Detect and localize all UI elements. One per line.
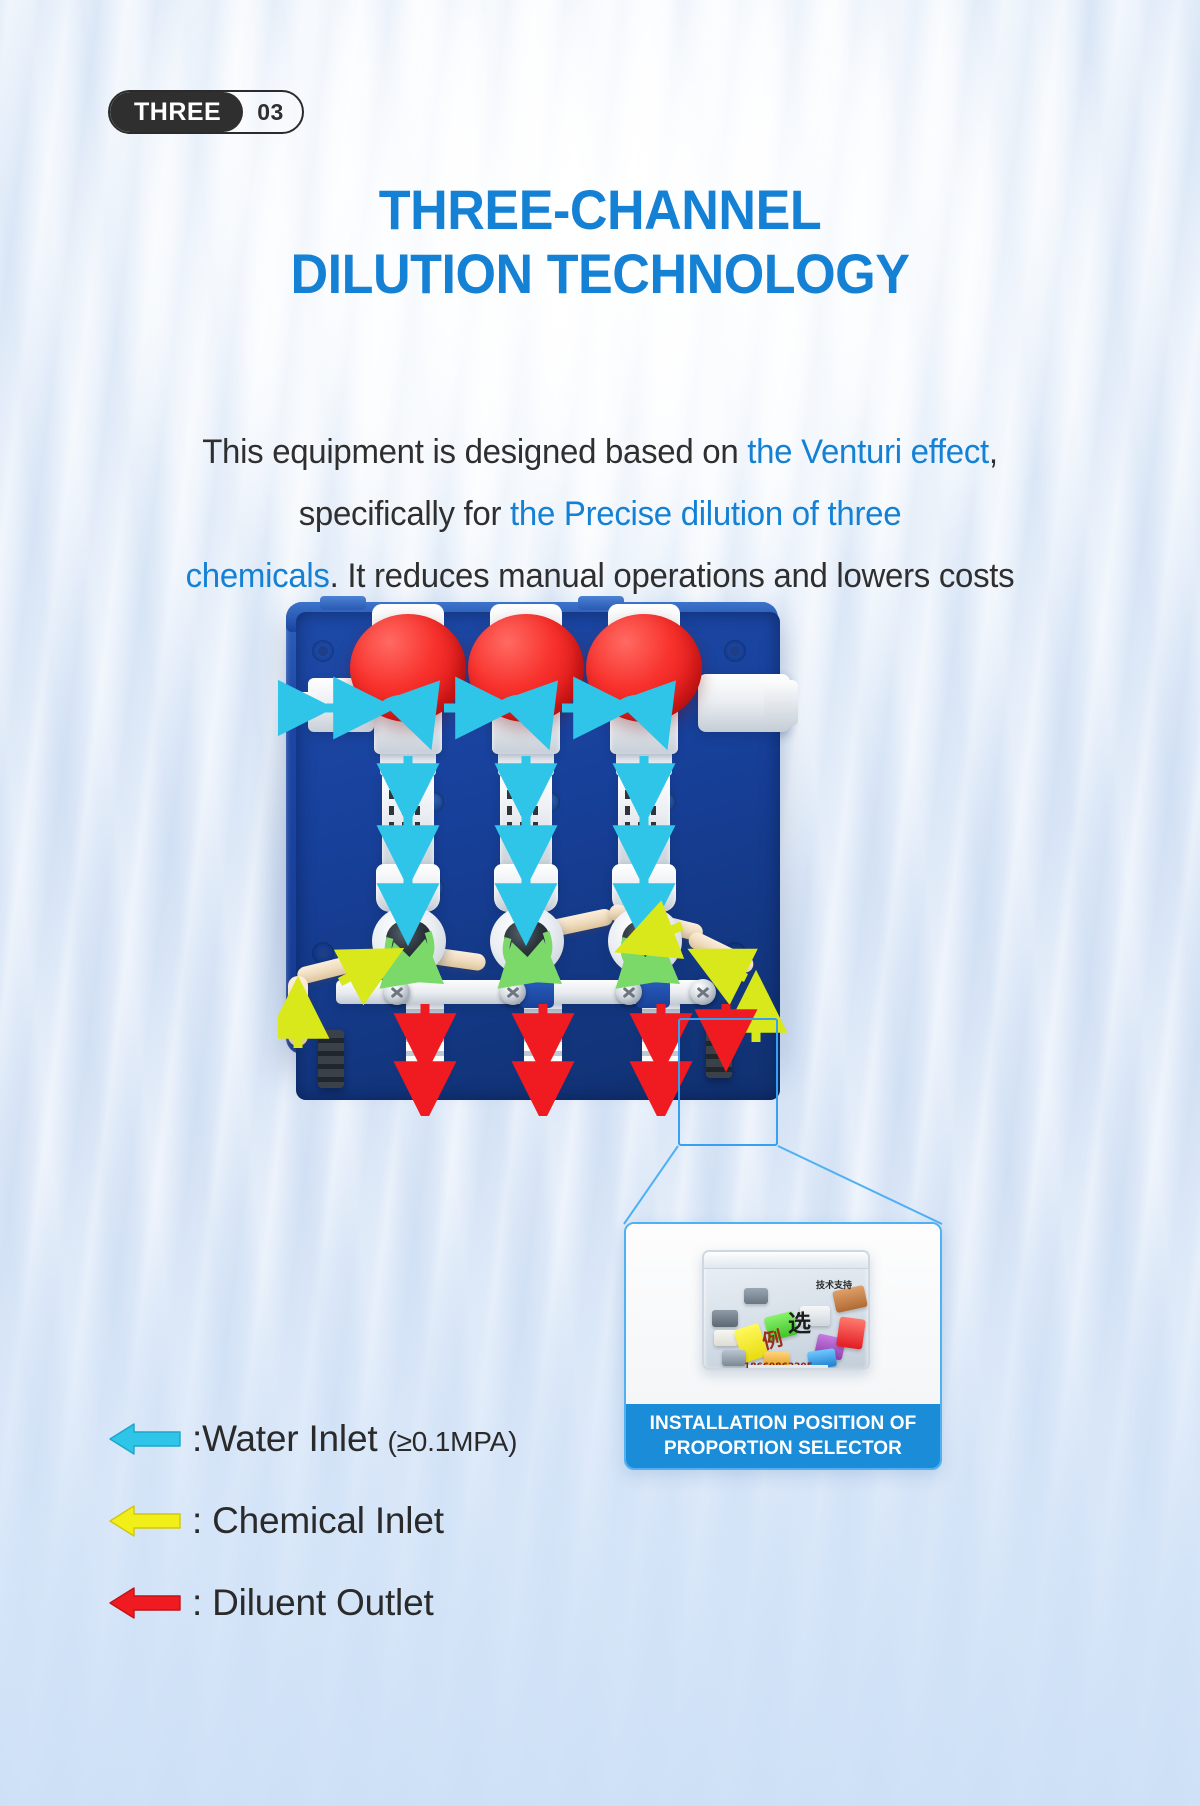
venturi-slots-2	[507, 790, 545, 852]
rail-screw-3	[616, 979, 642, 1005]
mixing-funnel-2	[494, 864, 558, 912]
description-text-1b: ,	[989, 433, 998, 471]
nozzle-gray-2	[744, 1288, 768, 1304]
inset-caption-line-2: PROPORTION SELECTOR	[664, 1436, 902, 1461]
venturi-slots-3	[625, 790, 663, 852]
venturi-injector-1	[382, 772, 434, 868]
outlet-barb-2	[524, 1000, 562, 1074]
title-line-1: THREE-CHANNEL	[379, 178, 821, 241]
legend-label-water-inlet: :Water Inlet (≥0.1MPA)	[192, 1418, 517, 1460]
description-highlight-3: chemicals	[186, 557, 330, 595]
mixing-funnel-1	[376, 864, 440, 912]
legend-label-diluent-outlet: : Diluent Outlet	[192, 1582, 434, 1624]
selector-case: 例 选 技术支持 18669862205	[702, 1250, 870, 1370]
right-end-nut	[764, 680, 798, 726]
section-badge: THREE 03	[108, 90, 304, 134]
nozzle-gray-1	[712, 1310, 738, 1327]
legend-item-chemical-inlet: : Chemical Inlet	[108, 1480, 517, 1562]
description-highlight-1: the Venturi effect	[747, 433, 989, 471]
outlet-barb-1	[406, 1000, 444, 1074]
inset-photo-text-2: 选	[788, 1304, 811, 1338]
outlet-barb-3	[642, 1000, 680, 1074]
legend-item-water-inlet: :Water Inlet (≥0.1MPA)	[108, 1398, 517, 1480]
description-paragraph: This equipment is designed based on the …	[37, 422, 1162, 608]
inset-photo-text-3: 技术支持	[816, 1278, 852, 1291]
legend-label-chemical-inlet: : Chemical Inlet	[192, 1500, 444, 1542]
nozzle-red	[836, 1316, 866, 1349]
nozzle-gray-3	[722, 1350, 746, 1366]
badge-number: 03	[243, 92, 302, 132]
mixing-hub-1	[386, 920, 432, 962]
description-text-1a: This equipment is designed based on	[202, 433, 747, 471]
chemical-inlet-barb-left	[318, 1030, 344, 1088]
chemical-tube-down	[288, 976, 308, 1046]
legend-text-water: :Water Inlet	[192, 1418, 387, 1459]
rail-screw-1	[384, 979, 410, 1005]
description-highlight-2: the Precise dilution of three	[510, 495, 901, 533]
screw-post-top-right	[724, 640, 746, 662]
inset-caption: INSTALLATION POSITION OF PROPORTION SELE…	[626, 1404, 940, 1468]
description-line-1: This equipment is designed based on the …	[37, 422, 1162, 484]
description-text-2a: specifically for	[299, 495, 510, 533]
red-valve-cap-3	[586, 614, 702, 722]
red-valve-cap-1	[350, 614, 466, 722]
legend-item-diluent-outlet: : Diluent Outlet	[108, 1562, 517, 1644]
page-title: THREE-CHANNEL DILUTION TECHNOLOGY	[42, 178, 1158, 306]
water-inlet-stub	[284, 692, 318, 718]
diluent-outlet-arrow-icon	[108, 1583, 192, 1623]
legend-note-water: (≥0.1MPA)	[387, 1426, 517, 1457]
venturi-injector-2	[500, 772, 552, 868]
chemical-inlet-arrow-icon	[108, 1501, 192, 1541]
selector-case-lid	[704, 1252, 868, 1269]
red-valve-cap-2	[468, 614, 584, 722]
legend: :Water Inlet (≥0.1MPA) : Chemical Inlet …	[108, 1398, 517, 1644]
mixing-hub-3	[622, 920, 668, 962]
inset-card: 例 选 技术支持 18669862205 INSTALLATION POSITI…	[624, 1222, 942, 1470]
badge-label: THREE	[110, 92, 243, 132]
description-text-3: . It reduces manual operations and lower…	[330, 557, 1015, 595]
selector-case-foot	[748, 1365, 828, 1370]
title-line-2: DILUTION TECHNOLOGY	[42, 242, 1158, 306]
rail-screw-2	[500, 979, 526, 1005]
mixing-hub-2	[504, 920, 550, 962]
rail-screw-4	[690, 979, 716, 1005]
venturi-slots-1	[389, 790, 427, 852]
screw-post-top-left	[312, 640, 334, 662]
callout-highlight-box	[678, 1018, 778, 1146]
inset-product-photo: 例 选 技术支持 18669862205	[626, 1224, 940, 1406]
water-inlet-arrow-icon	[108, 1419, 192, 1459]
venturi-injector-3	[618, 772, 670, 868]
description-line-2: specifically for the Precise dilution of…	[37, 484, 1162, 546]
inset-caption-line-1: INSTALLATION POSITION OF	[650, 1411, 917, 1436]
